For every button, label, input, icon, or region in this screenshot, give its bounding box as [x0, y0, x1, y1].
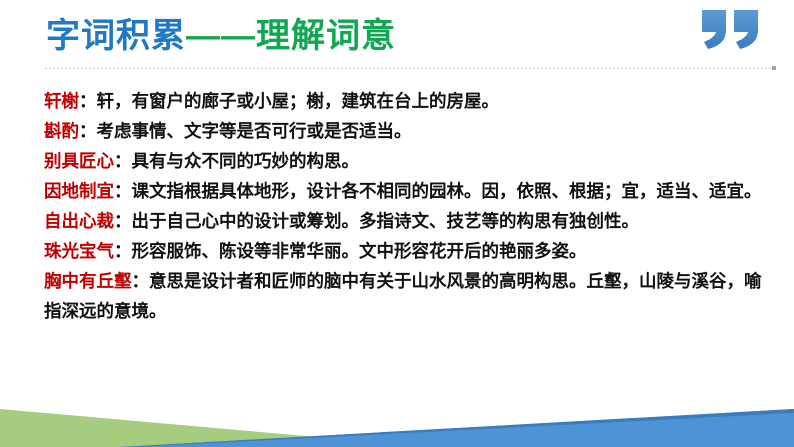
- page-title: 字词积累——理解词意: [46, 14, 396, 58]
- list-item: 斟酌：考虑事情、文字等是否可行或是否适当。: [44, 116, 764, 146]
- list-item: 因地制宜：课文指根据具体地形，设计各不相同的园林。因，依照、根据；宜，适当、适宜…: [44, 176, 764, 206]
- list-item: 胸中有丘壑：意思是设计者和匠师的脑中有关于山水风景的高明构思。丘壑，山陵与溪谷，…: [44, 266, 764, 326]
- title-divider: [45, 68, 776, 69]
- vocab-colon: ：: [114, 151, 132, 171]
- vocab-term: 自出心裁: [44, 211, 114, 231]
- slide-header: 字词积累——理解词意: [0, 0, 794, 80]
- footer-decoration: [0, 401, 794, 447]
- vocab-term: 别具匠心: [44, 151, 114, 171]
- list-item: 轩榭：轩，有窗户的廊子或小屋；榭，建筑在台上的房屋。: [44, 86, 764, 116]
- vocab-colon: ：: [114, 211, 132, 231]
- vocab-term: 胸中有丘壑: [44, 271, 132, 291]
- vocab-colon: ：: [114, 181, 132, 201]
- list-item: 自出心裁：出于自己心中的设计或筹划。多指诗文、技艺等的构思有独创性。: [44, 206, 764, 236]
- slide-root: 字词积累——理解词意 轩榭：轩，有窗户的廊子或小屋；榭，建筑在台上的房: [0, 0, 794, 447]
- vocab-definition: 轩，有窗户的廊子或小屋；榭，建筑在台上的房屋。: [97, 91, 500, 111]
- vocab-definition: 课文指根据具体地形，设计各不相同的园林。因，依照、根据；宜，适当、适宜。: [132, 181, 762, 201]
- vocab-term: 轩榭: [44, 91, 79, 111]
- vocab-definition: 出于自己心中的设计或筹划。多指诗文、技艺等的构思有独创性。: [132, 211, 640, 231]
- vocab-term: 因地制宜: [44, 181, 114, 201]
- vocab-term: 珠光宝气: [44, 241, 114, 261]
- vocab-definition: 意思是设计者和匠师的脑中有关于山水风景的高明构思。丘壑，山陵与溪谷，喻指深远的意…: [44, 271, 762, 321]
- vocabulary-list: 轩榭：轩，有窗户的廊子或小屋；榭，建筑在台上的房屋。 斟酌：考虑事情、文字等是否…: [44, 86, 764, 326]
- title-divider-endcap: [772, 66, 776, 70]
- vocab-colon: ：: [114, 241, 132, 261]
- list-item: 珠光宝气：形容服饰、陈设等非常华丽。文中形容花开后的艳丽多姿。: [44, 236, 764, 266]
- vocab-term: 斟酌: [44, 121, 79, 141]
- vocab-definition: 形容服饰、陈设等非常华丽。文中形容花开后的艳丽多姿。: [132, 241, 587, 261]
- page-title-main: 字词积累: [46, 17, 186, 55]
- list-item: 别具匠心：具有与众不同的巧妙的构思。: [44, 146, 764, 176]
- vocab-colon: ：: [79, 91, 97, 111]
- vocab-definition: 考虑事情、文字等是否可行或是否适当。: [97, 121, 412, 141]
- page-title-sub: ——理解词意: [186, 17, 396, 55]
- vocab-definition: 具有与众不同的巧妙的构思。: [132, 151, 360, 171]
- quotation-mark-icon: [700, 8, 762, 50]
- vocab-colon: ：: [132, 271, 150, 291]
- vocab-colon: ：: [79, 121, 97, 141]
